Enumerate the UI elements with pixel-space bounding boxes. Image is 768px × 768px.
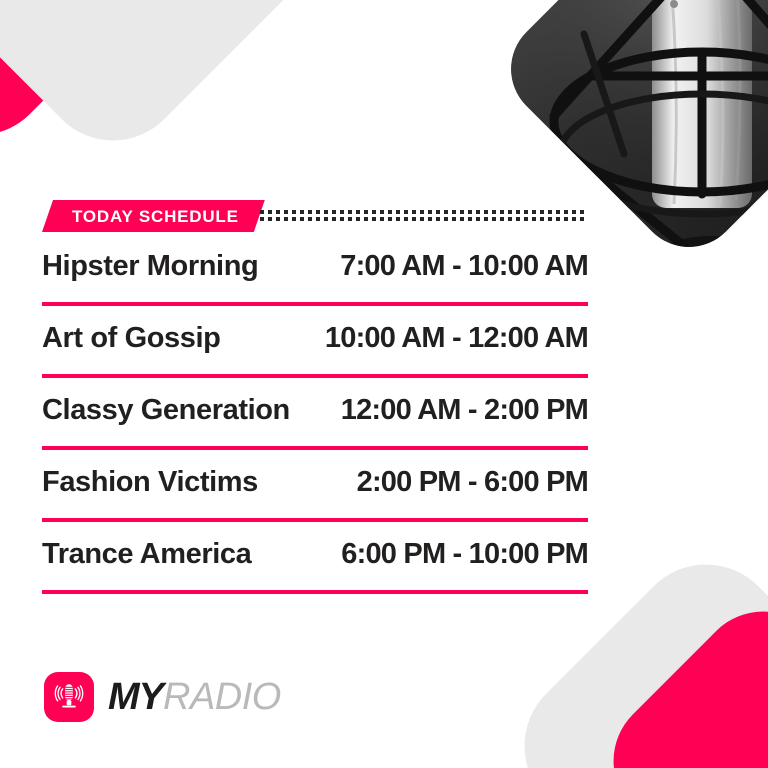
show-title: Art of Gossip <box>42 324 220 353</box>
row-divider <box>42 302 588 306</box>
top-left-pink-blob <box>0 0 164 164</box>
microphone-icon <box>52 680 86 714</box>
show-title: Hipster Morning <box>42 252 258 281</box>
schedule-entry: Fashion Victims 2:00 PM - 6:00 PM <box>42 468 588 522</box>
top-left-grey-blob <box>0 0 346 170</box>
row-divider <box>42 374 588 378</box>
row-divider <box>42 518 588 522</box>
logo-mark <box>44 672 94 722</box>
logo-word-radio: RADIO <box>163 678 281 716</box>
show-time: 10:00 AM - 12:00 AM <box>325 324 588 353</box>
row-divider <box>42 590 588 594</box>
schedule-list: Hipster Morning 7:00 AM - 10:00 AM Art o… <box>42 252 588 612</box>
show-title: Fashion Victims <box>42 468 258 497</box>
dotted-rule-icon <box>260 208 588 224</box>
brand-logo: MY RADIO <box>44 672 281 722</box>
schedule-entry: Art of Gossip 10:00 AM - 12:00 AM <box>42 324 588 378</box>
schedule-entry: Classy Generation 12:00 AM - 2:00 PM <box>42 396 588 450</box>
table-row: Art of Gossip 10:00 AM - 12:00 AM <box>42 324 588 374</box>
show-title: Classy Generation <box>42 396 290 425</box>
schedule-entry: Trance America 6:00 PM - 10:00 PM <box>42 540 588 594</box>
row-divider <box>42 446 588 450</box>
poster-canvas: TODAY SCHEDULE Hipster Morning 7:00 AM -… <box>0 0 768 768</box>
show-title: Trance America <box>42 540 251 569</box>
schedule-entry: Hipster Morning 7:00 AM - 10:00 AM <box>42 252 588 306</box>
show-time: 12:00 AM - 2:00 PM <box>341 396 588 425</box>
table-row: Classy Generation 12:00 AM - 2:00 PM <box>42 396 588 446</box>
schedule-header: TODAY SCHEDULE <box>42 200 588 234</box>
table-row: Trance America 6:00 PM - 10:00 PM <box>42 540 588 590</box>
logo-word-my: MY <box>108 678 163 716</box>
table-row: Hipster Morning 7:00 AM - 10:00 AM <box>42 252 588 302</box>
table-row: Fashion Victims 2:00 PM - 6:00 PM <box>42 468 588 518</box>
show-time: 7:00 AM - 10:00 AM <box>340 252 588 281</box>
today-schedule-label: TODAY SCHEDULE <box>72 208 239 225</box>
bottom-right-pink-blob <box>586 584 768 768</box>
show-time: 6:00 PM - 10:00 PM <box>341 540 588 569</box>
show-time: 2:00 PM - 6:00 PM <box>357 468 588 497</box>
today-schedule-badge: TODAY SCHEDULE <box>42 200 265 232</box>
logo-wordmark: MY RADIO <box>108 678 281 716</box>
